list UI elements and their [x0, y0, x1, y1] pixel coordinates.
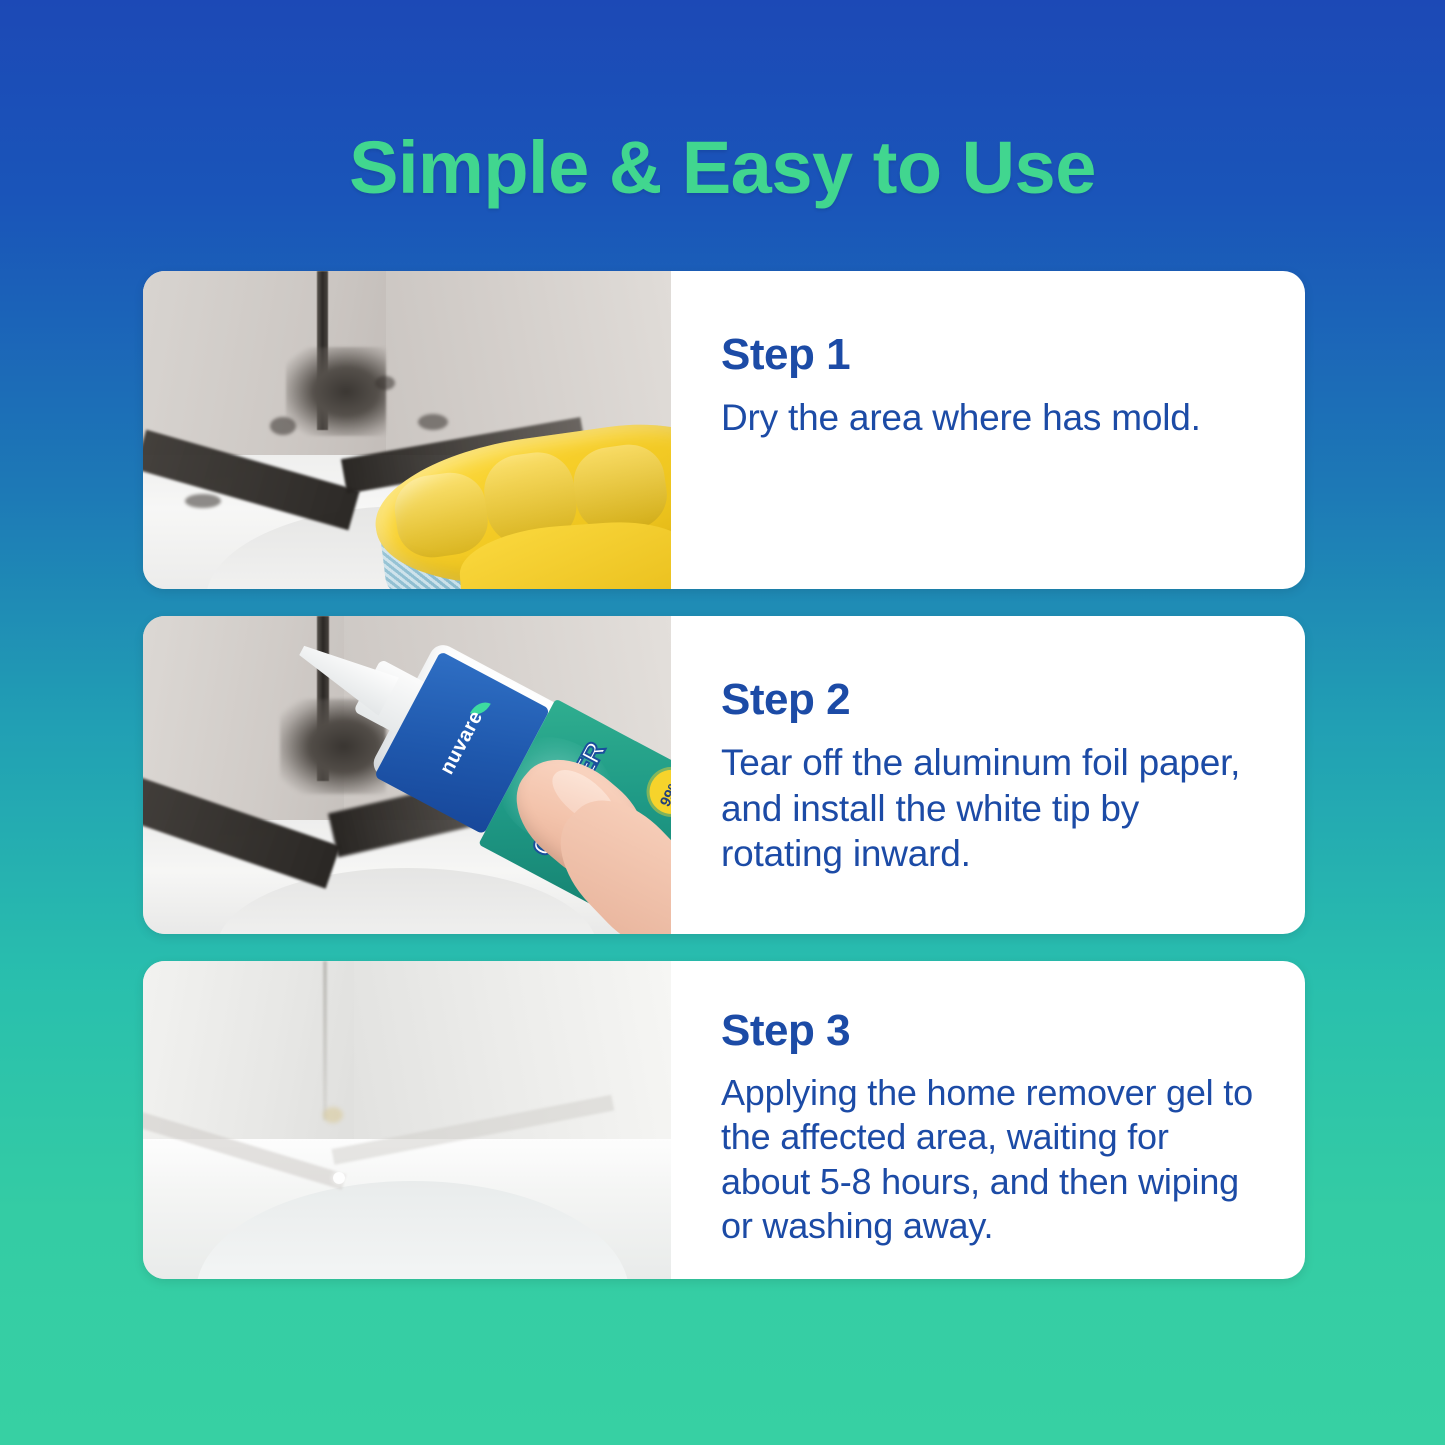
bathtub [143, 1139, 671, 1279]
step-1-text: Dry the area where has mold. [721, 395, 1265, 441]
efficacy-badge-label: 99% [657, 774, 671, 808]
step-card-1: Step 1 Dry the area where has mold. [143, 271, 1305, 589]
faint-stain [323, 1107, 343, 1123]
mold-speck [270, 417, 296, 435]
step-2-photo: nuvare CLEANER 99% [143, 616, 671, 934]
step-card-2: nuvare CLEANER 99% Step 2 Te [143, 616, 1305, 934]
step-1-body: Step 1 Dry the area where has mold. [671, 271, 1305, 589]
step-card-3: Step 3 Applying the home remover gel to … [143, 961, 1305, 1279]
step-3-body: Step 3 Applying the home remover gel to … [671, 961, 1305, 1279]
page-title: Simple & Easy to Use [0, 131, 1445, 205]
steps-list: Step 1 Dry the area where has mold. [143, 271, 1305, 1279]
corner-seam [323, 961, 327, 1120]
step-1-photo [143, 271, 671, 589]
step-1-heading: Step 1 [721, 333, 1265, 377]
efficacy-badge: 99% [642, 762, 671, 822]
infographic-poster: Simple & Easy to Use [0, 0, 1445, 1445]
brand-name: nuvare [436, 706, 489, 777]
water-droplet [333, 1172, 345, 1184]
step-3-heading: Step 3 [721, 1009, 1265, 1053]
step-2-heading: Step 2 [721, 678, 1265, 722]
mold-speck [418, 414, 448, 430]
mold-patch-vertical [286, 347, 386, 436]
step-2-text: Tear off the aluminum foil paper, and in… [721, 740, 1265, 877]
mold-speck [185, 494, 221, 508]
step-3-text: Applying the home remover gel to the aff… [721, 1071, 1265, 1248]
step-3-photo [143, 961, 671, 1279]
step-2-body: Step 2 Tear off the aluminum foil paper,… [671, 616, 1305, 934]
